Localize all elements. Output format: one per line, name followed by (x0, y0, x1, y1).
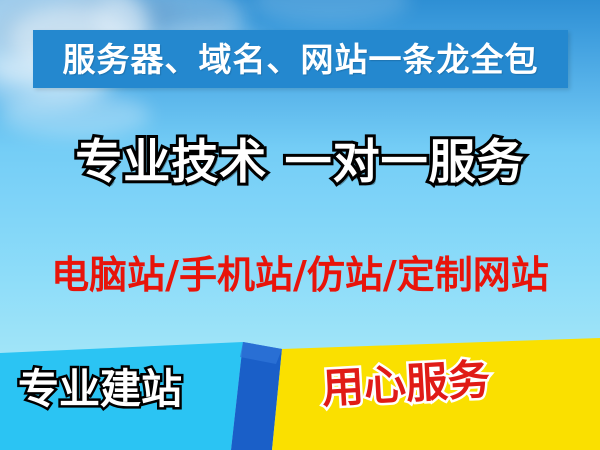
left-panel-text: 专业建站 (18, 369, 182, 410)
cloud-shape (60, 0, 180, 34)
top-banner-text: 服务器、域名、网站一条龙全包 (63, 43, 539, 76)
right-panel-text: 用心服务 (321, 359, 491, 410)
cloud-shape (0, 92, 150, 138)
top-banner-bar: 服务器、域名、网站一条龙全包 (33, 30, 568, 88)
promo-poster: 服务器、域名、网站一条龙全包 专业技术 一对一服务 电脑站/手机站/仿站/定制网… (0, 0, 600, 450)
services-list-text: 电脑站/手机站/仿站/定制网站 (0, 256, 600, 294)
cloud-shape (250, 0, 410, 24)
bottom-banner: 专业建站 用心服务 (0, 338, 600, 450)
headline-text: 专业技术 一对一服务 (0, 139, 600, 186)
